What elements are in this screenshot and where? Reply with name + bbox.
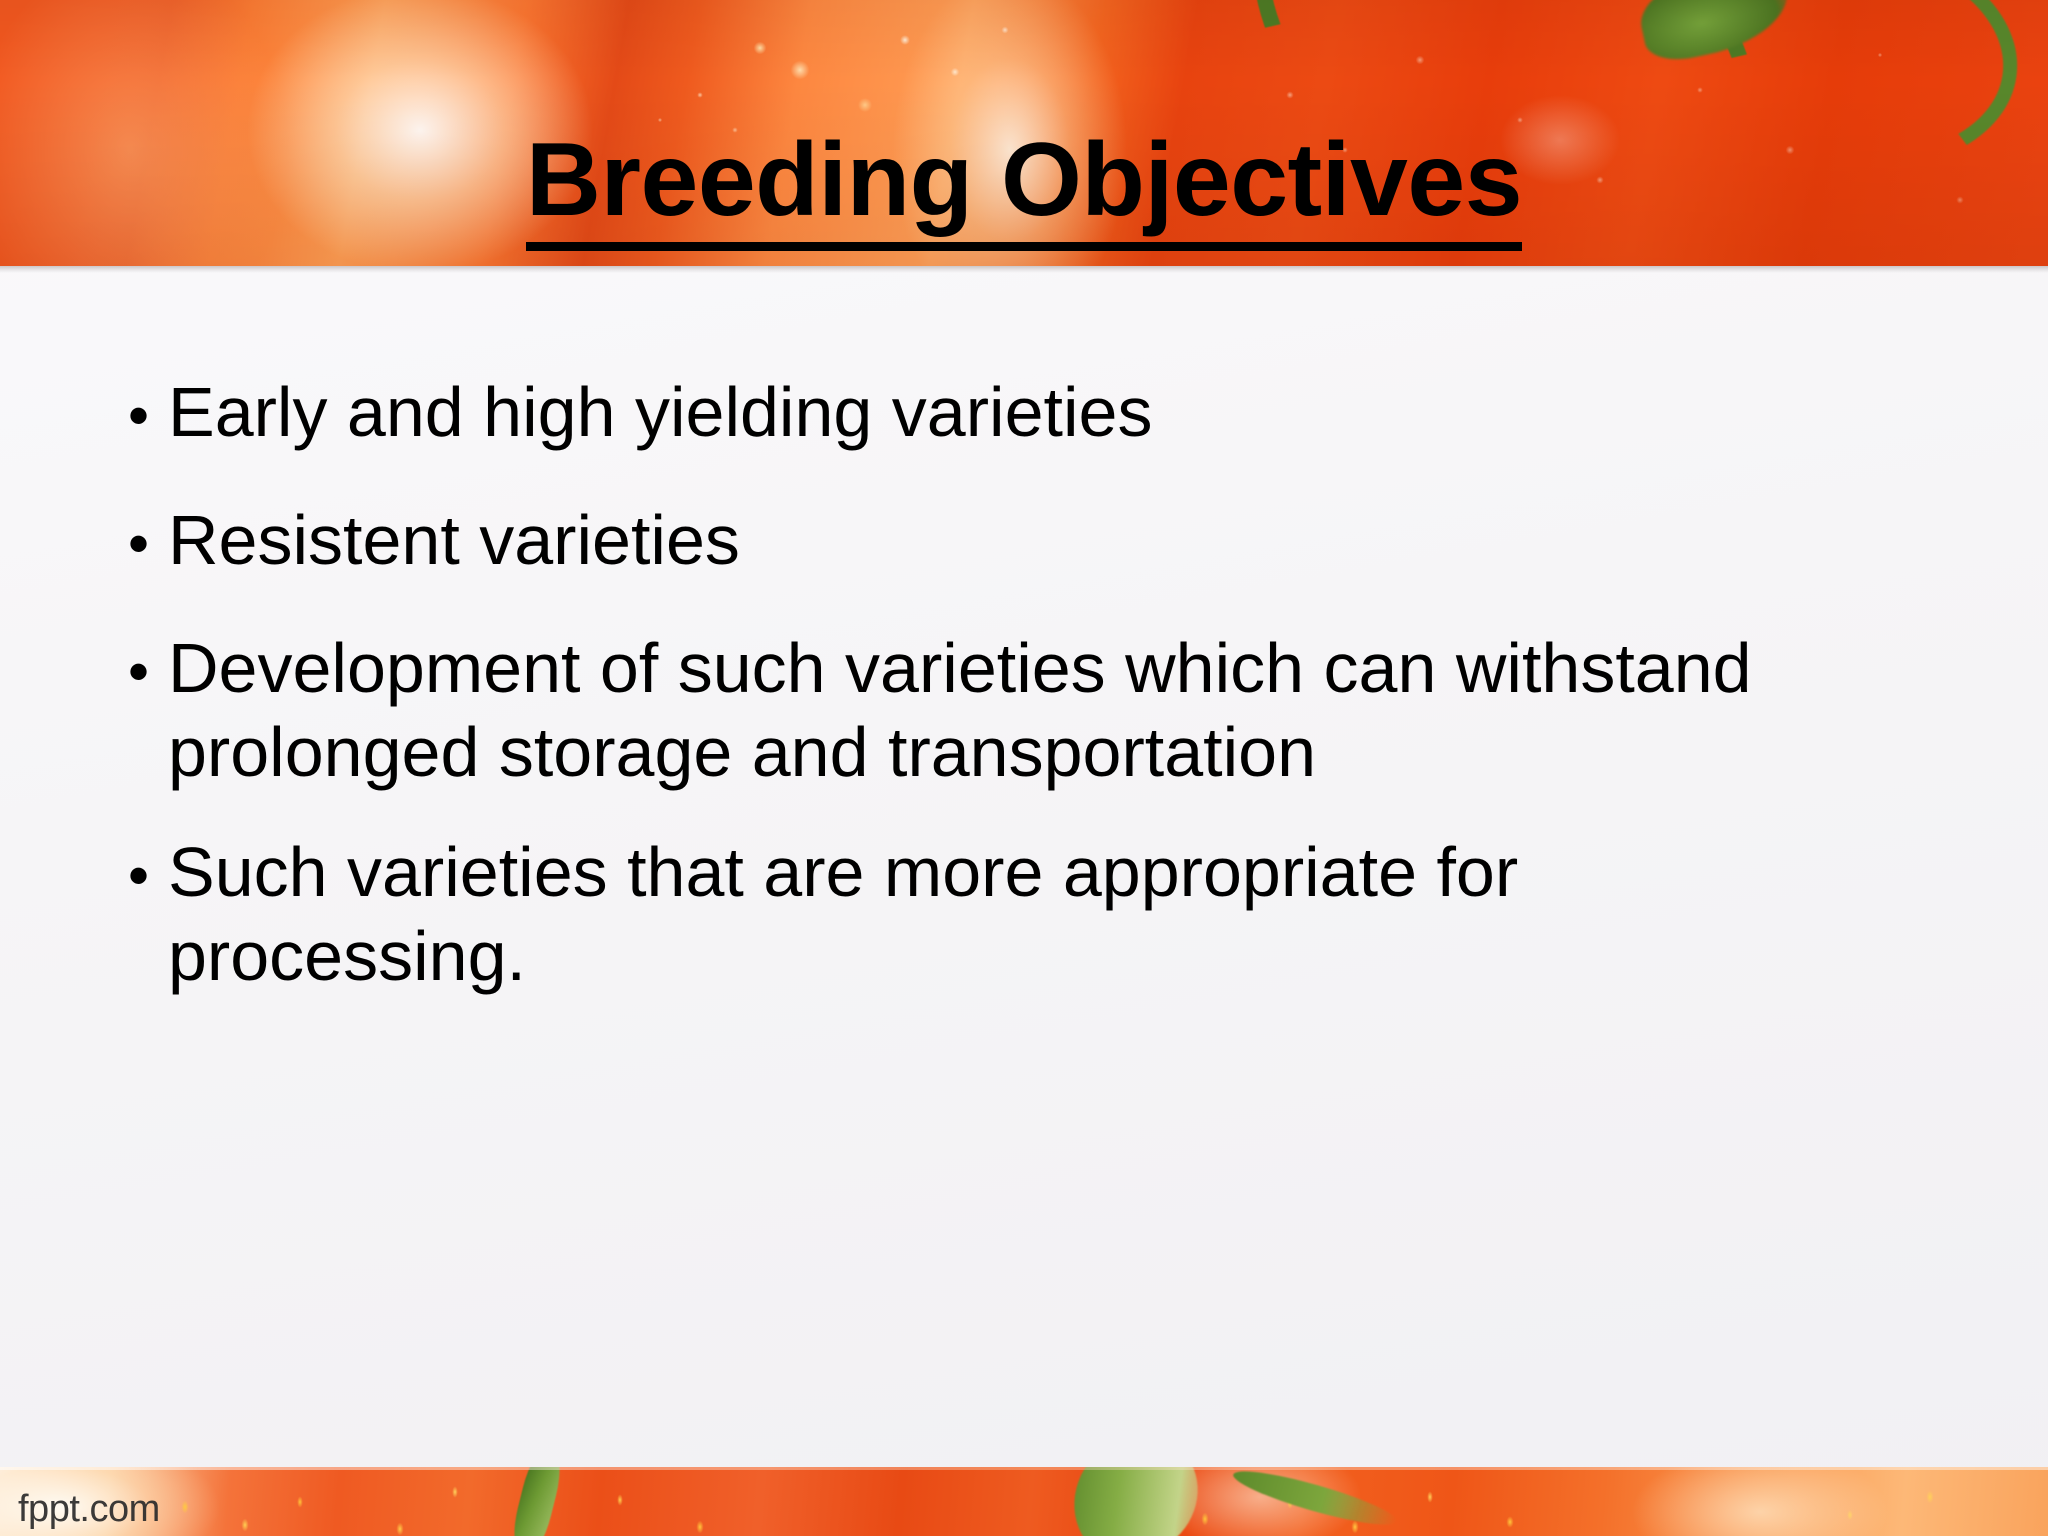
fppt-watermark: fppt.com — [18, 1487, 160, 1531]
list-item: • Development of such varieties which ca… — [96, 626, 1916, 794]
slide-title: Breeding Objectives — [0, 128, 2048, 232]
tomato-seeds-decoration — [0, 1467, 2048, 1536]
bullet-point-icon: • — [96, 498, 168, 590]
bullet-point-icon: • — [96, 626, 168, 718]
list-item-text: Resistent varieties — [168, 498, 1878, 582]
list-item-text: Such varieties that are more appropriate… — [168, 830, 1868, 998]
bullet-point-icon: • — [96, 830, 168, 922]
list-item: • Early and high yielding varieties — [96, 370, 1916, 462]
banner-bottom-edge-divider — [0, 266, 2048, 273]
bullet-point-icon: • — [96, 370, 168, 462]
bottom-banner-top-edge — [0, 1467, 2048, 1470]
list-item: • Such varieties that are more appropria… — [96, 830, 1916, 998]
presentation-slide: Breeding Objectives • Early and high yie… — [0, 0, 2048, 1536]
slide-title-text: Breeding Objectives — [526, 122, 1522, 251]
list-item-text: Development of such varieties which can … — [168, 626, 1868, 794]
bottom-tomato-banner-image — [0, 1467, 2048, 1536]
list-item: • Resistent varieties — [96, 498, 1916, 590]
list-item-text: Early and high yielding varieties — [168, 370, 1878, 454]
bullet-list: • Early and high yielding varieties • Re… — [96, 370, 1916, 1034]
